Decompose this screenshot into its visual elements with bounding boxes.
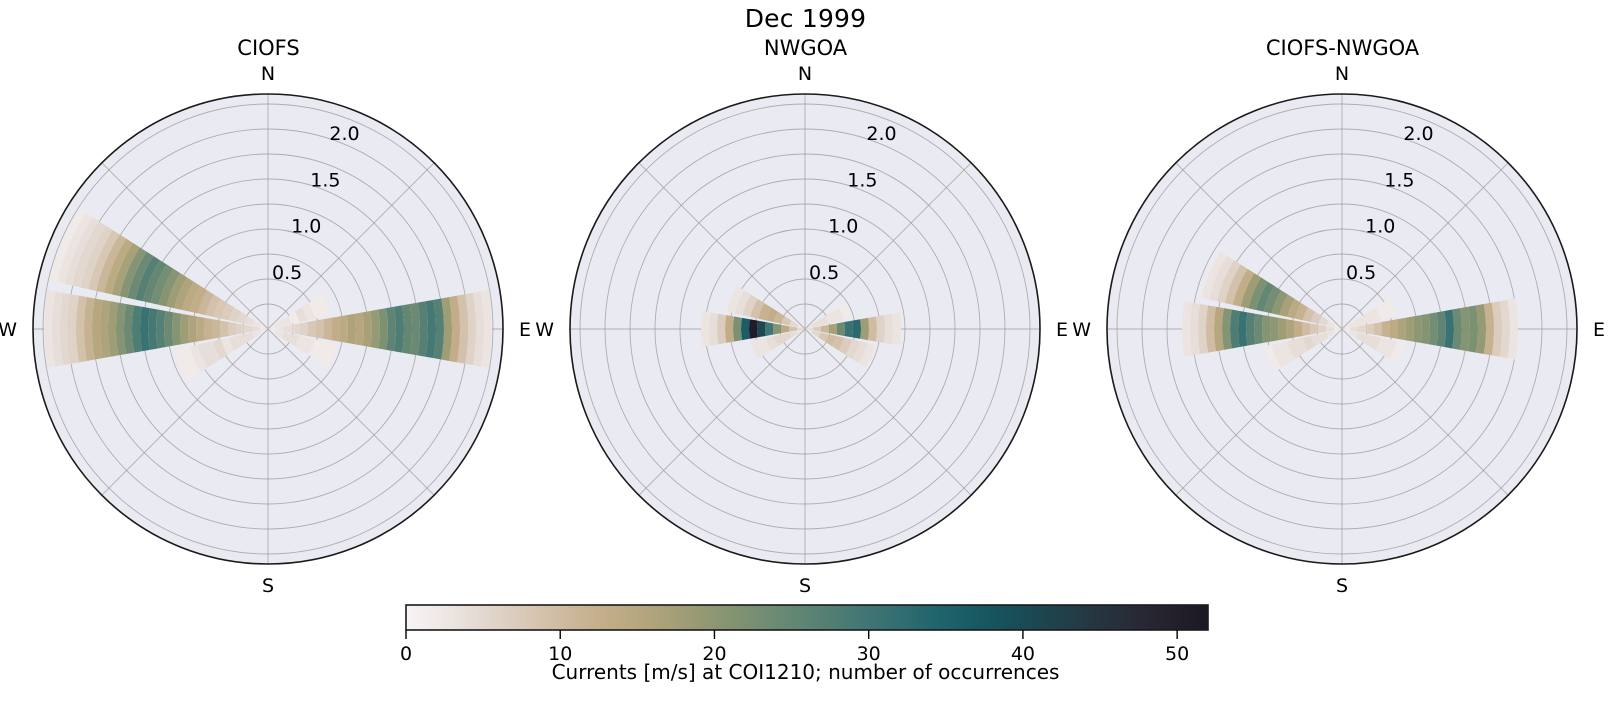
polar-panel-nwgoa: NWGOA NESW0.51.01.52.0 — [537, 0, 1074, 600]
histogram-wedge — [292, 323, 300, 334]
histogram-wedge — [244, 325, 252, 333]
histogram-wedge — [1366, 323, 1374, 334]
histogram-wedge — [315, 319, 324, 338]
histogram-wedge — [339, 315, 348, 343]
histogram-wedge — [196, 316, 205, 341]
histogram-wedge — [1286, 319, 1295, 338]
histogram-wedge — [1397, 318, 1406, 340]
rtick-label-0-5: 0.5 — [809, 262, 839, 284]
theta-label-n: N — [1335, 63, 1349, 85]
histogram-wedge — [860, 318, 869, 340]
rtick-label-1-5: 1.5 — [847, 169, 877, 191]
histogram-wedge — [323, 318, 332, 340]
histogram-wedge — [236, 323, 244, 334]
histogram-wedge — [228, 322, 236, 336]
rtick-label-1-5: 1.5 — [1384, 169, 1414, 191]
histogram-wedge — [347, 314, 356, 345]
rtick-label-1-5: 1.5 — [310, 169, 340, 191]
histogram-wedge — [1246, 312, 1255, 345]
rtick-label-2-0: 2.0 — [329, 123, 359, 145]
histogram-wedge — [765, 322, 773, 336]
histogram-wedge — [1254, 314, 1263, 345]
histogram-wedge — [1429, 312, 1438, 345]
histogram-wedge — [1374, 322, 1382, 336]
histogram-wedge — [1302, 322, 1310, 336]
colorbar-area: 01020304050 Currents [m/s] at COI1210; n… — [0, 575, 1611, 724]
histogram-wedge — [1270, 316, 1279, 341]
histogram-wedge — [781, 325, 789, 333]
theta-label-n: N — [798, 63, 812, 85]
colorbar-gradient: 01020304050 — [0, 575, 1611, 660]
colorbar-svg: 01020304050 — [0, 575, 1611, 660]
histogram-wedge — [1310, 323, 1318, 334]
histogram-wedge — [884, 314, 893, 345]
histogram-wedge — [717, 314, 726, 345]
polar-panel-ciofs-nwgoa: CIOFS-NWGOA NESW0.51.01.52.0 — [1074, 0, 1611, 600]
rtick-label-1-0: 1.0 — [828, 216, 858, 238]
theta-label-w: W — [535, 319, 554, 341]
histogram-wedge — [172, 312, 181, 345]
histogram-wedge — [1358, 325, 1366, 333]
polar-chart-ciofs: NESW0.51.01.52.0 — [0, 0, 537, 600]
histogram-wedge — [749, 319, 758, 338]
polar-panel-ciofs: CIOFS NESW0.51.01.52.0 — [0, 0, 537, 600]
rtick-label-1-0: 1.0 — [1365, 216, 1395, 238]
histogram-wedge — [709, 312, 718, 345]
polar-axes-nwgoa: NESW0.51.01.52.0 — [537, 0, 1074, 600]
histogram-wedge — [300, 322, 308, 336]
histogram-wedge — [757, 321, 766, 338]
histogram-wedge — [1413, 315, 1422, 343]
figure-root: Dec 1999 CIOFS NESW0.51.01.52.0 NWGOA NE… — [0, 0, 1611, 724]
histogram-wedge — [733, 316, 742, 341]
histogram-wedge — [204, 318, 213, 340]
histogram-wedge — [331, 316, 340, 341]
rtick-label-0-5: 0.5 — [272, 262, 302, 284]
theta-label-n: N — [261, 63, 275, 85]
histogram-wedge — [868, 316, 877, 341]
histogram-wedge — [844, 321, 853, 338]
colorbar-label: Currents [m/s] at COI1210; number of occ… — [0, 660, 1611, 684]
rtick-label-2-0: 2.0 — [866, 123, 896, 145]
histogram-wedge — [284, 325, 292, 333]
histogram-wedge — [876, 315, 885, 343]
histogram-wedge — [180, 314, 189, 345]
histogram-wedge — [1381, 321, 1390, 338]
histogram-wedge — [773, 323, 781, 334]
theta-label-w: W — [1072, 319, 1091, 341]
histogram-wedge — [741, 318, 750, 340]
histogram-wedge — [829, 323, 837, 334]
histogram-wedge — [725, 315, 734, 343]
histogram-wedge — [355, 312, 364, 345]
histogram-wedge — [821, 325, 829, 333]
polar-axes-ciofs: NESW0.51.01.52.0 — [0, 0, 537, 600]
polar-chart-nwgoa: NESW0.51.01.52.0 — [537, 0, 1074, 600]
histogram-wedge — [1405, 316, 1414, 341]
rtick-label-2-0: 2.0 — [1403, 123, 1433, 145]
histogram-wedge — [1262, 315, 1271, 343]
rtick-label-1-0: 1.0 — [291, 216, 321, 238]
histogram-wedge — [837, 322, 845, 336]
histogram-wedge — [1318, 325, 1326, 333]
theta-label-e: E — [1593, 319, 1605, 341]
theta-label-e: E — [519, 319, 531, 341]
polar-chart-ciofs-nwgoa: NESW0.51.01.52.0 — [1074, 0, 1611, 600]
polar-axes-ciofs-nwgoa: NESW0.51.01.52.0 — [1074, 0, 1611, 600]
histogram-wedge — [188, 315, 197, 343]
histogram-wedge — [212, 319, 221, 338]
histogram-wedge — [1278, 318, 1287, 340]
histogram-wedge — [1294, 321, 1303, 338]
histogram-wedge — [220, 321, 229, 338]
rtick-label-0-5: 0.5 — [1346, 262, 1376, 284]
histogram-wedge — [892, 312, 901, 345]
histogram-wedge — [1421, 314, 1430, 345]
histogram-wedge — [852, 319, 861, 338]
histogram-wedge — [307, 321, 316, 338]
histogram-wedge — [1389, 319, 1398, 338]
theta-label-e: E — [1056, 319, 1068, 341]
theta-label-w: W — [0, 319, 17, 341]
colorbar-bar[interactable] — [406, 605, 1208, 630]
